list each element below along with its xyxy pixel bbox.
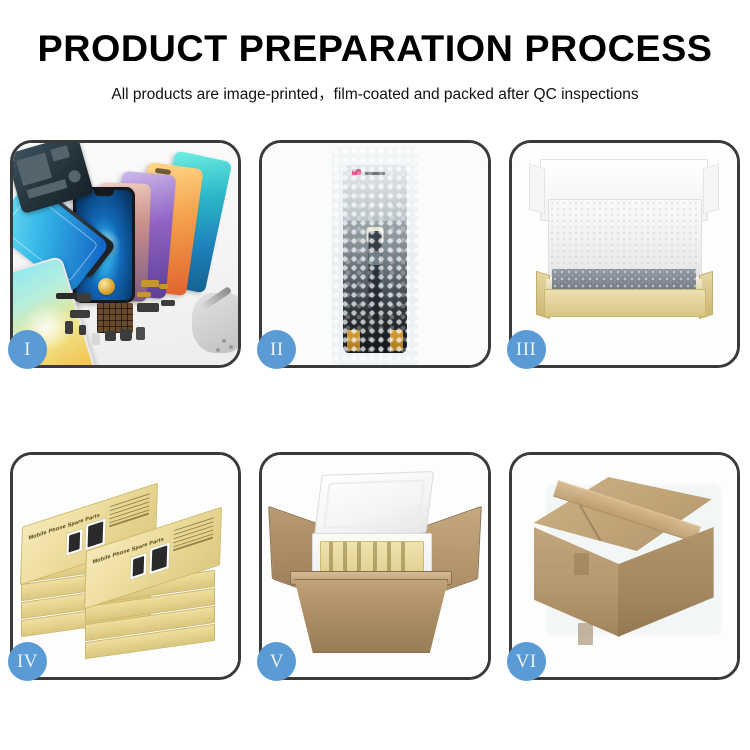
small-part-3 [79, 325, 86, 335]
small-part-7 [136, 327, 145, 340]
step-badge-3: III [507, 330, 546, 369]
flex-cable-part-2 [159, 284, 168, 289]
step-card-2: II [259, 140, 490, 368]
small-part-5 [105, 331, 116, 341]
speaker-part-icon [98, 278, 115, 295]
step-card-4: Mobile Phone Spare Parts Mobile Phone Sp… [10, 452, 241, 680]
header: PRODUCT PREPARATION PROCESS All products… [0, 0, 750, 104]
small-part-4 [92, 333, 100, 345]
small-part-2 [65, 321, 73, 334]
step-panel-5 [259, 452, 490, 680]
step-image-2 [262, 143, 487, 365]
step-image-5 [262, 455, 487, 677]
page-title: PRODUCT PREPARATION PROCESS [0, 30, 750, 69]
carton-notch-top [574, 553, 589, 575]
small-part-1 [70, 310, 90, 318]
bubble-texture-overlay [332, 147, 418, 365]
step-card-1: I [10, 140, 241, 368]
product-preparation-infographic: PRODUCT PREPARATION PROCESS All products… [0, 0, 750, 750]
carton-notch-bottom [578, 623, 593, 645]
step-card-3: III [509, 140, 740, 368]
step-card-6: VI [509, 452, 740, 680]
step-panel-3 [509, 140, 740, 368]
step-card-5: V [259, 452, 490, 680]
step-panel-2 [259, 140, 490, 368]
flex-cable-part-1 [141, 280, 159, 287]
step-image-6 [512, 455, 737, 677]
foam-sheet [548, 199, 702, 277]
small-part-10 [77, 293, 91, 302]
bubble-wrap-bag [332, 147, 418, 365]
step-badge-4: IV [8, 642, 47, 681]
step-image-4: Mobile Phone Spare Parts Mobile Phone Sp… [13, 455, 238, 677]
step-image-3 [512, 143, 737, 365]
styrofoam-lid [314, 471, 434, 537]
small-part-9 [161, 300, 175, 306]
carton-body [294, 579, 448, 653]
step-image-1 [13, 143, 238, 365]
step-panel-4: Mobile Phone Spare Parts Mobile Phone Sp… [10, 452, 241, 680]
step-panel-6 [509, 452, 740, 680]
box-stack: Mobile Phone Spare Parts Mobile Phone Sp… [19, 483, 229, 659]
small-part-6 [120, 329, 132, 341]
flex-cable-part-3 [137, 292, 151, 297]
box-front-panel [544, 289, 706, 317]
steps-grid: I [10, 140, 740, 680]
step-badge-1: I [8, 330, 47, 369]
step-panel-1 [10, 140, 241, 368]
small-part-8 [137, 303, 159, 312]
page-subtitle: All products are image-printed，film-coat… [0, 82, 750, 104]
step-badge-6: VI [507, 642, 546, 681]
